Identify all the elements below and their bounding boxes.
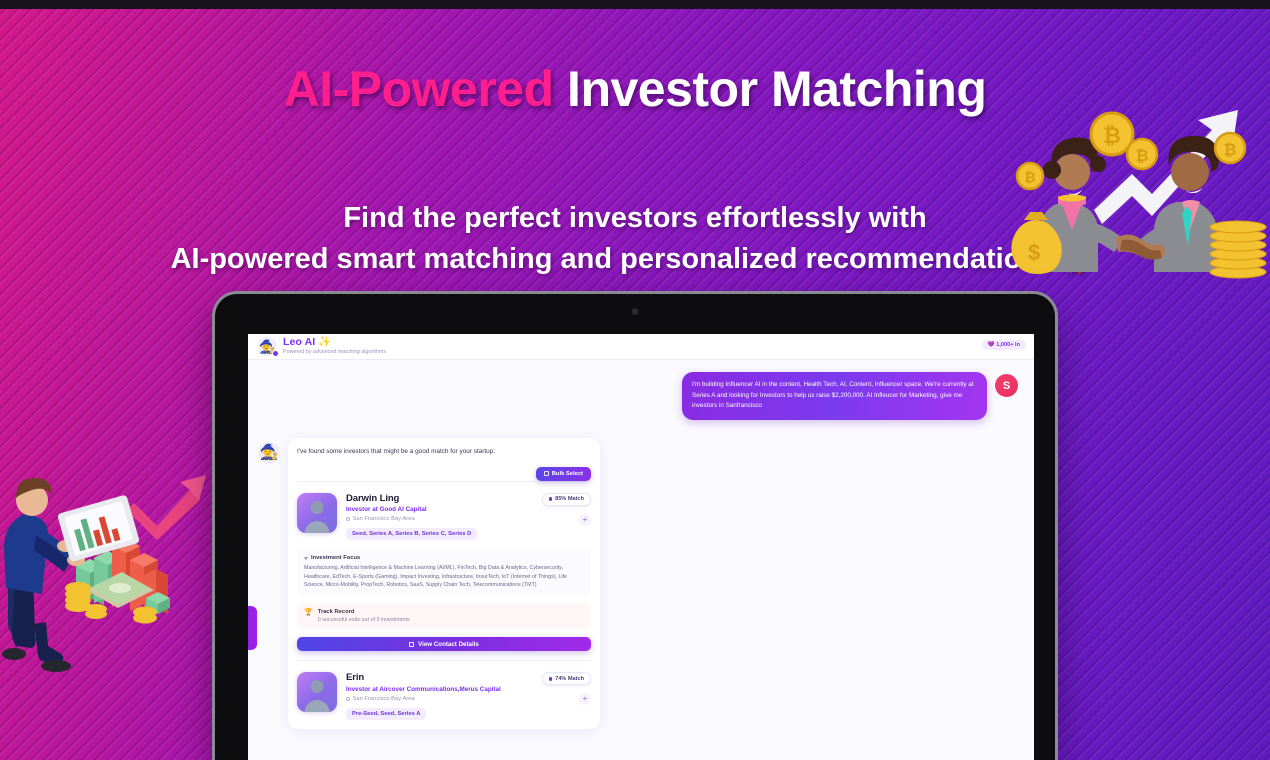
investor-name: Erin	[346, 672, 533, 683]
businessman-chart-illustration	[0, 418, 224, 678]
investment-focus-text: Manufacturing, Artificial Intelligence &…	[304, 564, 584, 590]
svg-text:₿: ₿	[1103, 123, 1121, 148]
match-dot-icon	[549, 677, 553, 681]
webcam-dot	[632, 308, 639, 315]
headline-accent: AI-Powered	[284, 61, 554, 117]
investor-count-badge: 💜 1,000+ In	[982, 340, 1026, 350]
status-badge: 74% Match	[542, 672, 591, 685]
investor-details: Darwin Ling Investor at Good AI Capital …	[346, 493, 533, 541]
brand-block: Leo AI ✨ Powered by advanced matching al…	[283, 337, 386, 355]
top-dark-bar	[0, 0, 1270, 9]
track-record-text: 0 successful exits out of 3 investments	[318, 617, 410, 623]
investor-card[interactable]: Erin Investor at Aircover Communications…	[297, 660, 591, 729]
hero-banner: AI-Powered Investor Matching Find the pe…	[0, 0, 1270, 760]
wizard-icon: 🧙	[258, 337, 277, 356]
brand-subtitle: Powered by advanced matching algorithms	[283, 350, 386, 356]
investment-focus-title: Investment Focus	[311, 555, 360, 561]
investor-details: Erin Investor at Aircover Communications…	[346, 672, 533, 720]
add-investor-button[interactable]: +	[579, 514, 591, 526]
laptop-mockup: 🧙 Leo AI ✨ Powered by advanced matching …	[215, 294, 1055, 760]
investor-location-label: San Francisco Bay Area	[353, 696, 415, 702]
verified-badge-icon	[272, 350, 279, 357]
view-contact-details-button[interactable]: View Contact Details	[297, 637, 591, 651]
investor-results-panel: I've found some investors that might be …	[288, 438, 600, 729]
avatar-body	[305, 700, 330, 712]
investor-card[interactable]: Darwin Ling Investor at Good AI Capital …	[297, 481, 591, 661]
investment-focus-header[interactable]: Investment Focus	[304, 555, 584, 561]
investor-stages: Pre-Seed, Seed, Series A	[346, 708, 426, 720]
investor-stages: Seed, Series A, Series B, Series C, Seri…	[346, 528, 477, 540]
avatar	[297, 493, 337, 533]
avatar-body	[305, 521, 330, 533]
match-dot-icon	[549, 497, 553, 501]
track-record-body: Track Record 0 successful exits out of 3…	[318, 609, 410, 624]
avatar	[297, 672, 337, 712]
investor-header: Darwin Ling Investor at Good AI Capital …	[297, 493, 591, 541]
handshake-deal-illustration: $ ₿ ₿ ₿ ₿	[1000, 82, 1270, 280]
investor-role: Investor at Good AI Capital	[346, 506, 533, 513]
svg-text:$: $	[1028, 240, 1040, 265]
match-percent-label: 85% Match	[555, 496, 584, 502]
track-record-title: Track Record	[318, 609, 410, 615]
svg-text:₿: ₿	[1223, 141, 1236, 159]
investor-location-label: San Francisco Bay Area	[353, 516, 415, 522]
bulk-select-label: Bulk Select	[552, 471, 583, 477]
investor-actions: 85% Match +	[542, 493, 591, 541]
location-pin-icon	[346, 697, 350, 701]
track-record-panel: 🏆 Track Record 0 successful exits out of…	[297, 603, 591, 630]
investor-location: San Francisco Bay Area	[346, 696, 533, 702]
chevron-down-icon	[304, 557, 308, 560]
match-percent-label: 74% Match	[555, 676, 584, 682]
investment-focus-panel[interactable]: Investment Focus Manufacturing, Artifici…	[297, 549, 591, 596]
investor-role: Investor at Aircover Communications,Meru…	[346, 686, 533, 693]
brand-name: Leo AI ✨	[283, 337, 386, 348]
trophy-icon: 🏆	[304, 609, 313, 616]
investor-header: Erin Investor at Aircover Communications…	[297, 672, 591, 720]
assistant-message-row: 🧙 I've found some investors that might b…	[248, 438, 1034, 729]
location-pin-icon	[346, 517, 350, 521]
investor-location: San Francisco Bay Area	[346, 516, 533, 522]
sidebar-toggle-tab[interactable]	[248, 606, 257, 650]
avatar-head	[311, 680, 324, 693]
wizard-icon: 🧙	[258, 442, 280, 464]
chat-body: I'm building Influencer AI in the conten…	[248, 360, 1034, 760]
headline-rest: Investor Matching	[554, 61, 987, 117]
user-message-bubble: I'm building Influencer AI in the conten…	[682, 372, 987, 420]
add-investor-button[interactable]: +	[579, 693, 591, 705]
app-screen: 🧙 Leo AI ✨ Powered by advanced matching …	[248, 334, 1034, 760]
investor-name: Darwin Ling	[346, 493, 533, 504]
external-link-icon	[409, 642, 414, 647]
checkbox-icon	[544, 471, 549, 476]
view-contact-label: View Contact Details	[418, 641, 479, 648]
app-header: 🧙 Leo AI ✨ Powered by advanced matching …	[248, 334, 1034, 360]
avatar-head	[311, 501, 324, 514]
investor-actions: 74% Match +	[542, 672, 591, 720]
status-badge: 85% Match	[542, 493, 591, 506]
bulk-select-button[interactable]: Bulk Select	[536, 467, 591, 481]
svg-text:₿: ₿	[1024, 169, 1035, 185]
bulk-select-row: Bulk Select	[297, 467, 591, 481]
user-message-row: I'm building Influencer AI in the conten…	[248, 372, 1034, 420]
svg-text:₿: ₿	[1135, 147, 1148, 165]
assistant-message-text: I've found some investors that might be …	[297, 447, 591, 457]
avatar[interactable]: S	[995, 374, 1018, 397]
